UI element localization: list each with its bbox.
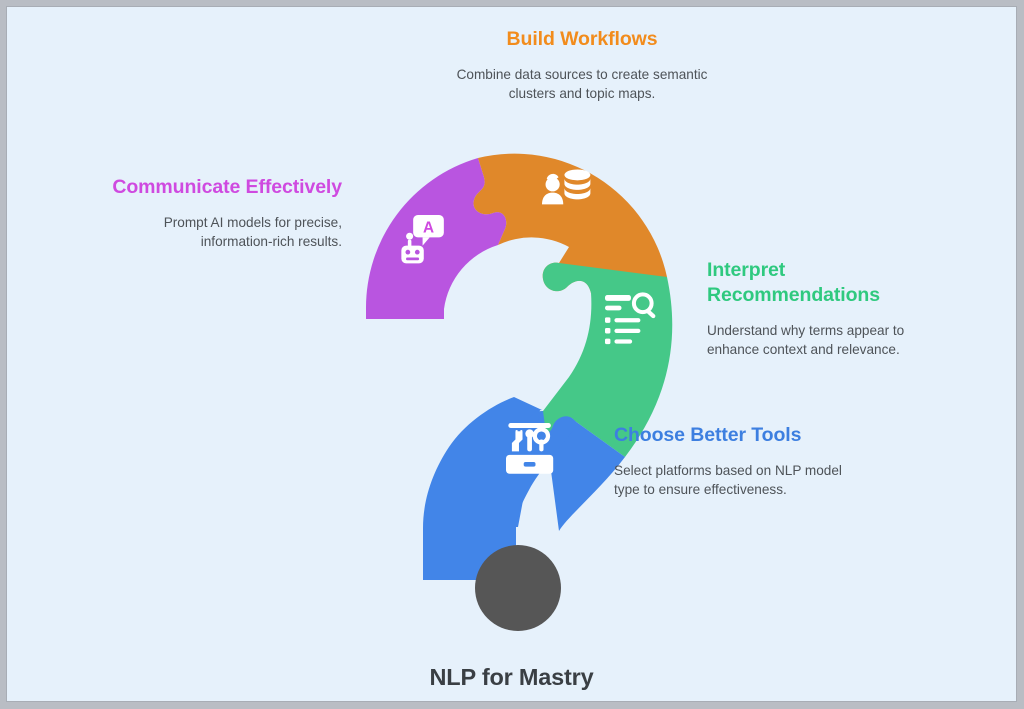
block-tools-body: Select platforms based on NLP model type… [614,461,844,500]
block-communicate-effectively: Communicate Effectively Prompt AI models… [102,175,342,252]
svg-text:A: A [423,220,434,237]
page-title: NLP for Mastry [7,664,1016,691]
block-build-workflows: Build Workflows Combine data sources to … [437,27,727,104]
block-interpret-body: Understand why terms appear to enhance c… [707,321,917,360]
block-communicate-heading: Communicate Effectively [102,175,342,200]
infographic-frame: A [6,6,1017,702]
question-mark-dot [475,545,561,631]
block-tools-heading: Choose Better Tools [614,423,844,448]
block-communicate-body: Prompt AI models for precise, informatio… [102,213,342,252]
infographic-stage: A [7,7,1016,701]
block-interpret-heading: Interpret Recommendations [707,258,917,308]
block-choose-better-tools: Choose Better Tools Select platforms bas… [614,423,844,500]
block-interpret-recommendations: Interpret Recommendations Understand why… [707,258,917,360]
block-build-heading: Build Workflows [437,27,727,52]
question-mark-puzzle-graphic: A [337,127,717,637]
block-build-body: Combine data sources to create semantic … [437,65,727,104]
purple-piece-base [366,309,444,319]
